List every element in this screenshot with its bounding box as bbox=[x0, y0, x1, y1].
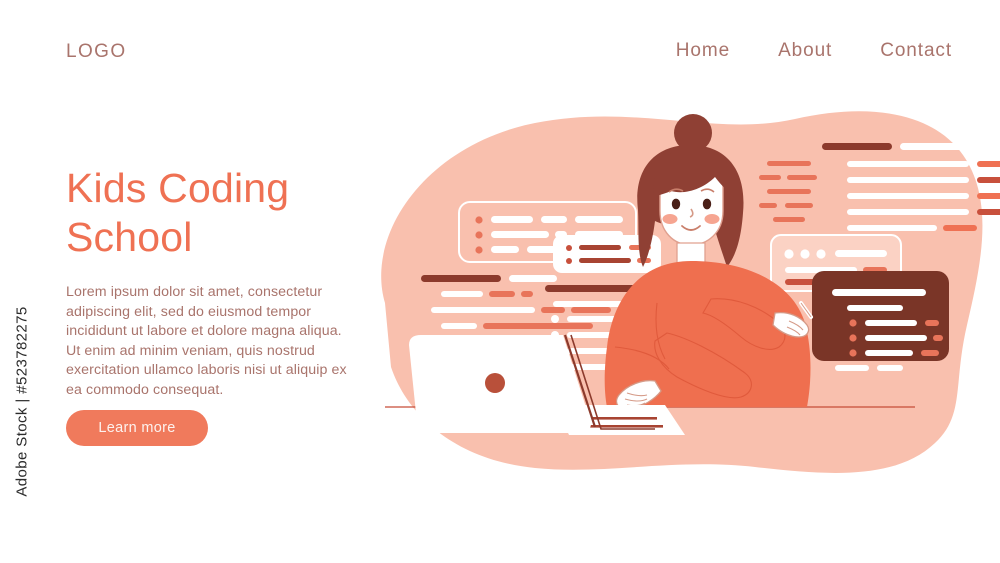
dark-code-window bbox=[812, 271, 949, 371]
page-title: Kids Coding School bbox=[66, 164, 396, 262]
learn-more-button[interactable]: Learn more bbox=[66, 410, 208, 446]
main-nav: Home About Contact bbox=[676, 40, 952, 62]
eye-right bbox=[703, 199, 711, 210]
cheek-right bbox=[705, 214, 720, 224]
illustration-svg bbox=[355, 85, 1000, 505]
logo[interactable]: LOGO bbox=[66, 41, 127, 63]
laptop-logo bbox=[485, 373, 505, 393]
hero-description: Lorem ipsum dolor sit amet, consectetur … bbox=[66, 283, 356, 400]
eye-left bbox=[672, 199, 680, 210]
landing-page: Adobe Stock | #523782275 LOGO Home About… bbox=[0, 0, 1000, 563]
stock-watermark: Adobe Stock | #523782275 bbox=[14, 262, 31, 542]
nav-link-contact[interactable]: Contact bbox=[880, 40, 952, 62]
hero-illustration bbox=[355, 85, 1000, 505]
nav-link-about[interactable]: About bbox=[778, 40, 832, 62]
nav-link-home[interactable]: Home bbox=[676, 40, 730, 62]
cheek-left bbox=[663, 214, 678, 224]
hair-bun bbox=[674, 114, 712, 152]
